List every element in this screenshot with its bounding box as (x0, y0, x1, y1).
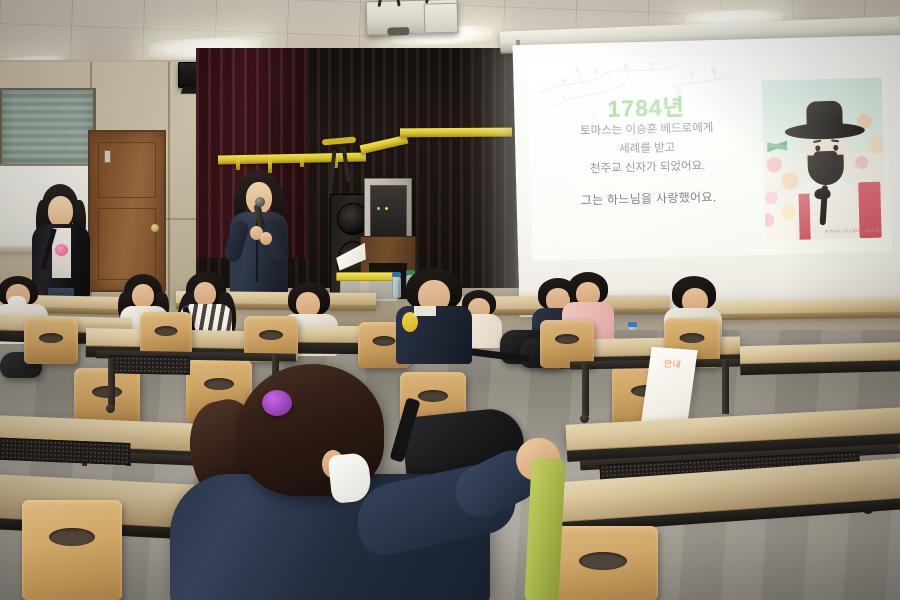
chair-handle-hole (49, 528, 95, 546)
chair-backrest (22, 500, 122, 600)
projector-cable (377, 0, 382, 7)
table-caster (106, 404, 115, 413)
chair-handle-hole (92, 386, 122, 398)
av-equipment-rack (364, 178, 412, 244)
microphone-head (255, 197, 265, 207)
chair-handle-hole (680, 333, 705, 343)
chair-handle-hole (259, 330, 283, 340)
classroom-table (740, 342, 900, 364)
chair-handle-hole (39, 333, 63, 343)
illustration-eye (815, 145, 820, 151)
projector-cable (395, 0, 400, 7)
foreground-student-raising-arm (170, 362, 570, 600)
projector-lens (387, 27, 409, 36)
illustration-robe (798, 194, 810, 240)
storage-bin-lid (336, 272, 400, 281)
trim-drip (300, 158, 304, 167)
wooden-chair[interactable] (22, 500, 122, 600)
seated-student-with-patch (396, 268, 472, 364)
projected-slide: 1784년 토마스는 이승훈 베드로에게 세례를 받고 천주교 신자가 되었어요… (527, 51, 892, 260)
ceiling-projector (366, 0, 459, 35)
table-leg (108, 358, 115, 406)
purple-hair-scrunchie (262, 390, 292, 416)
curtain-yellow-trim (400, 128, 512, 138)
chair-handle-hole (555, 334, 579, 344)
placard-text: 안내 (653, 355, 691, 374)
slide-illustration: 한국천주교주교회의 · 교육자료 (762, 78, 886, 241)
classroom-door[interactable] (88, 130, 166, 292)
wall-seam (168, 62, 170, 310)
chair-handle-hole (155, 326, 178, 336)
slide-emphasis-line: 그는 하느님을 사랑했어요. (538, 187, 758, 210)
face (132, 284, 154, 308)
projector-housing (424, 3, 459, 34)
bottle-cap (628, 322, 637, 327)
illustration-gat-hat-crown (806, 101, 843, 130)
wooden-chair[interactable] (24, 318, 78, 364)
illustration-moustache (813, 151, 837, 161)
classroom-photo-scene: 1784년 토마스는 이승훈 베드로에게 세례를 받고 천주교 신자가 되었어요… (0, 0, 900, 600)
face (48, 196, 73, 227)
table-leg (722, 360, 729, 414)
yellow-green-foam-stick[interactable] (524, 457, 566, 600)
hand (260, 232, 272, 245)
chair-handle-hole (373, 336, 396, 346)
illustration-eye (833, 145, 838, 151)
table-leg (582, 364, 589, 416)
wooden-chair[interactable] (140, 312, 192, 356)
face (194, 282, 216, 306)
door-panel (98, 208, 156, 280)
pink-name-badge (55, 244, 68, 256)
presenter-with-microphone (228, 170, 290, 296)
collar (414, 306, 436, 316)
door-sign (104, 150, 111, 163)
rack-faceplate (370, 185, 407, 237)
chair-handle-hole (579, 552, 627, 570)
rack-led (377, 207, 380, 210)
illustration-flowers-right (848, 105, 885, 182)
table-caster (580, 414, 589, 423)
window-with-blinds (0, 88, 96, 166)
trim-drip (236, 160, 240, 170)
rack-led (385, 207, 388, 210)
slide-text-block: 1784년 토마스는 이승훈 베드로에게 세례를 받고 천주교 신자가 되었어요… (536, 93, 759, 210)
door-knob[interactable] (151, 224, 159, 232)
